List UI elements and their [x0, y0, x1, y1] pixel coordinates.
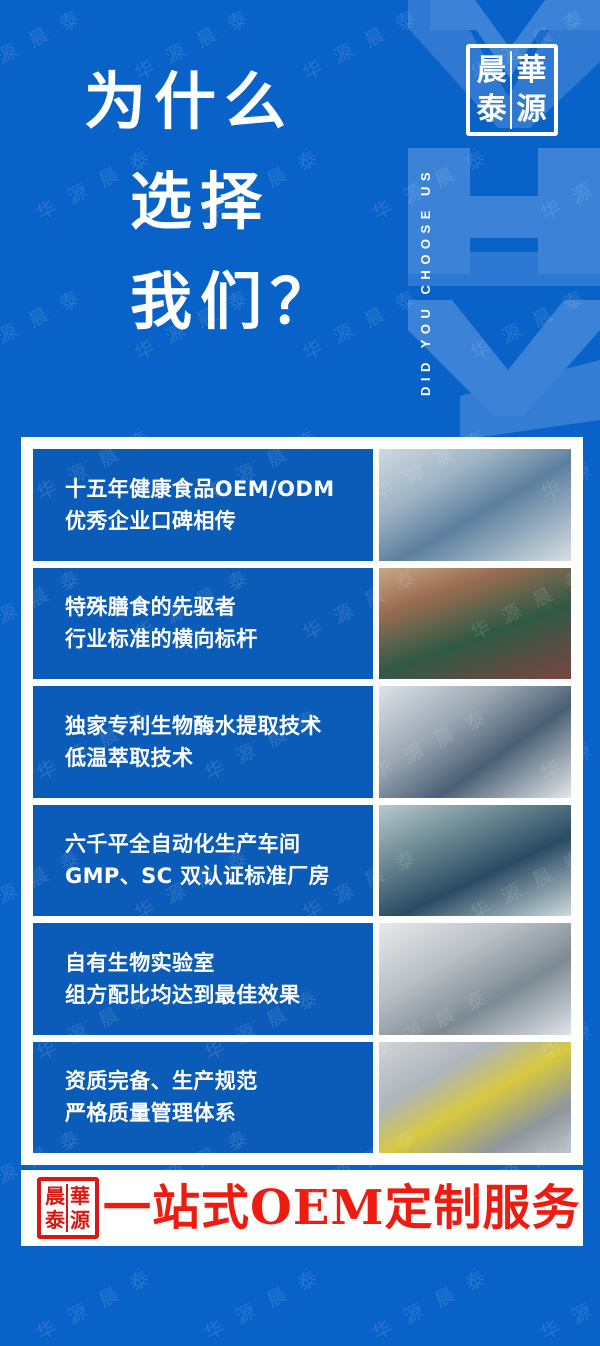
watermark-text: 华 源 晨 泰 — [31, 1261, 158, 1345]
vertical-english-text: DID YOU CHOOSE US — [418, 167, 433, 396]
seal-char-tai: 泰 — [477, 95, 507, 125]
feature-card: 独家专利生物酶水提取技术低温萃取技术 — [33, 686, 571, 798]
seal-column-left: 晨 泰 — [473, 51, 512, 129]
feature-card: 特殊膳食的先驱者行业标准的横向标杆 — [33, 568, 571, 680]
feature-card-text: 自有生物实验室组方配比均达到最佳效果 — [33, 923, 373, 1035]
feature-card-line-1: 资质完备、生产规范 — [65, 1065, 373, 1097]
banner-seal-column-left: 晨 泰 — [44, 1184, 68, 1232]
vertical-english-subtitle: DID YOU CHOOSE US — [398, 38, 428, 398]
feature-card-line-1: 六千平全自动化生产车间 — [65, 828, 373, 860]
watermark-text: 华 源 晨 泰 — [199, 1261, 326, 1345]
feature-card-text: 十五年健康食品OEM/ODM优秀企业口碑相传 — [33, 449, 373, 561]
title-line-1: 为什么 — [84, 52, 384, 152]
watermark-text: 华 源 晨 泰 — [535, 1261, 600, 1345]
feature-card-line-1: 十五年健康食品OEM/ODM — [65, 473, 373, 505]
feature-card-frame: 十五年健康食品OEM/ODM优秀企业口碑相传特殊膳食的先驱者行业标准的横向标杆独… — [21, 437, 583, 1165]
brand-seal-icon: 晨 泰 華 源 — [466, 44, 558, 136]
feature-card-line-2: GMP、SC 双认证标准厂房 — [65, 860, 373, 892]
feature-card-photo — [379, 568, 571, 680]
feature-card: 六千平全自动化生产车间GMP、SC 双认证标准厂房 — [33, 805, 571, 917]
banner-seal-column-right: 華 源 — [68, 1184, 92, 1232]
feature-card-line-2: 行业标准的横向标杆 — [65, 623, 373, 655]
feature-card-line-1: 特殊膳食的先驱者 — [65, 591, 373, 623]
seal-char-hua: 華 — [517, 56, 547, 86]
feature-card-photo — [379, 686, 571, 798]
feature-card: 资质完备、生产规范严格质量管理体系 — [33, 1042, 571, 1154]
title-line-2: 选择 — [84, 152, 384, 252]
feature-card-text: 资质完备、生产规范严格质量管理体系 — [33, 1042, 373, 1154]
banner-seal-icon: 晨 泰 華 源 — [37, 1177, 99, 1239]
seal-char-yuan: 源 — [517, 95, 547, 125]
seal-char-chen: 晨 — [477, 56, 507, 86]
feature-card: 自有生物实验室组方配比均达到最佳效果 — [33, 923, 571, 1035]
banner-seal-char-hua: 華 — [70, 1186, 90, 1206]
feature-card-list: 十五年健康食品OEM/ODM优秀企业口碑相传特殊膳食的先驱者行业标准的横向标杆独… — [33, 449, 571, 1153]
feature-card-line-1: 自有生物实验室 — [65, 947, 373, 979]
hero-header: 为什么 选择 我们？ DID YOU CHOOSE US 晨 泰 華 源 — [0, 0, 600, 440]
banner-seal-char-tai: 泰 — [45, 1210, 65, 1230]
seal-column-right: 華 源 — [512, 51, 551, 129]
feature-card-text: 六千平全自动化生产车间GMP、SC 双认证标准厂房 — [33, 805, 373, 917]
page-title: 为什么 选择 我们？ — [84, 52, 384, 352]
feature-card-text: 独家专利生物酶水提取技术低温萃取技术 — [33, 686, 373, 798]
feature-card-photo — [379, 449, 571, 561]
feature-card-line-1: 独家专利生物酶水提取技术 — [65, 710, 373, 742]
feature-card-line-2: 严格质量管理体系 — [65, 1097, 373, 1129]
banner-slogan: 一站式OEM定制服务 — [99, 1180, 581, 1236]
title-line-3: 我们？ — [84, 252, 384, 352]
feature-card-photo — [379, 923, 571, 1035]
bottom-banner: 晨 泰 華 源 一站式OEM定制服务 — [21, 1170, 583, 1246]
feature-card-photo — [379, 805, 571, 917]
banner-seal-char-chen: 晨 — [45, 1186, 65, 1206]
feature-card-line-2: 低温萃取技术 — [65, 742, 373, 774]
banner-seal-char-yuan: 源 — [70, 1210, 90, 1230]
feature-card-line-2: 优秀企业口碑相传 — [65, 505, 373, 537]
feature-card-text: 特殊膳食的先驱者行业标准的横向标杆 — [33, 568, 373, 680]
feature-card-photo — [379, 1042, 571, 1154]
feature-card: 十五年健康食品OEM/ODM优秀企业口碑相传 — [33, 449, 571, 561]
watermark-text: 华 源 晨 泰 — [367, 1261, 494, 1345]
feature-card-line-2: 组方配比均达到最佳效果 — [65, 979, 373, 1011]
